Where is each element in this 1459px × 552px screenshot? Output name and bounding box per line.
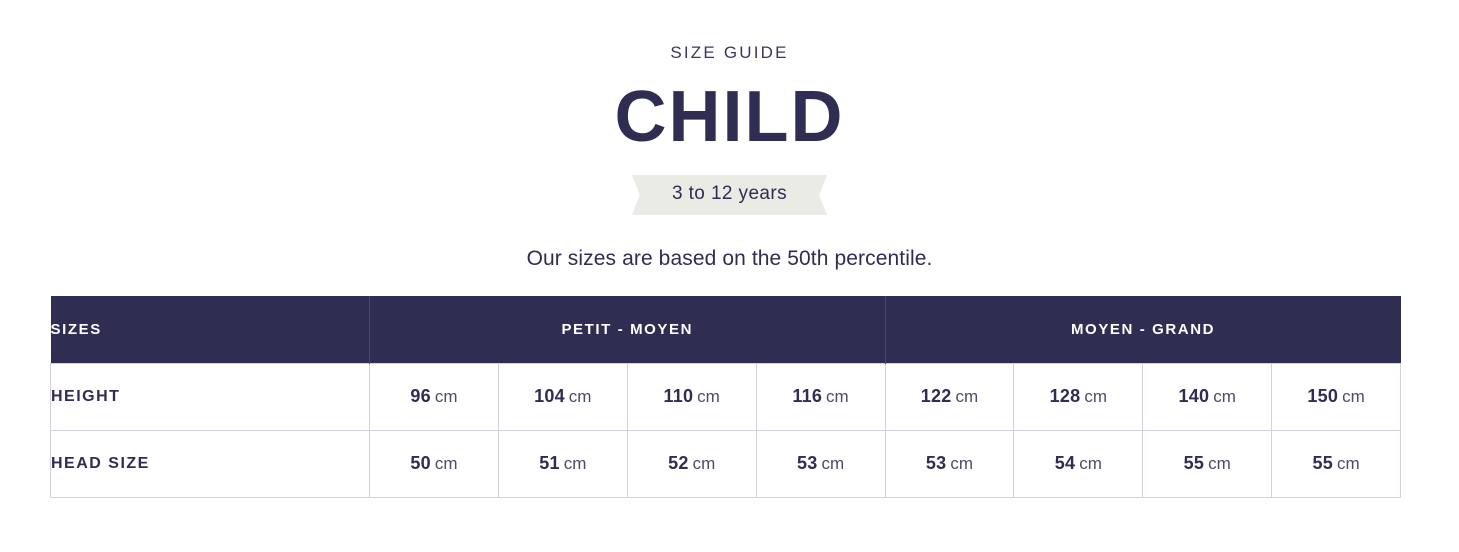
cell-unit: cm: [693, 454, 716, 473]
column-header-group-moyen-grand: MOYEN - GRAND: [885, 296, 1401, 363]
cell-value: 122: [921, 386, 952, 406]
size-table-container: SIZES PETIT - MOYEN MOYEN - GRAND HEIGHT…: [50, 296, 1400, 498]
cell-height-8: 150cm: [1272, 363, 1401, 430]
cell-value: 150: [1307, 386, 1338, 406]
cell-value: 55: [1313, 453, 1333, 473]
cell-height-2: 104cm: [498, 363, 627, 430]
cell-height-7: 140cm: [1143, 363, 1272, 430]
eyebrow-label: SIZE GUIDE: [0, 44, 1459, 61]
age-range-badge: 3 to 12 years: [632, 175, 827, 215]
cell-unit: cm: [435, 387, 458, 406]
table-header: SIZES PETIT - MOYEN MOYEN - GRAND: [51, 296, 1401, 363]
cell-value: 54: [1055, 453, 1075, 473]
cell-unit: cm: [1337, 454, 1360, 473]
cell-value: 53: [926, 453, 946, 473]
cell-head-size-5: 53cm: [885, 430, 1014, 497]
cell-head-size-7: 55cm: [1143, 430, 1272, 497]
cell-height-1: 96cm: [370, 363, 499, 430]
table-header-row: SIZES PETIT - MOYEN MOYEN - GRAND: [51, 296, 1401, 363]
cell-head-size-6: 54cm: [1014, 430, 1143, 497]
cell-value: 52: [668, 453, 688, 473]
cell-value: 50: [410, 453, 430, 473]
row-label-head-size: HEAD SIZE: [51, 430, 370, 497]
table-row: HEIGHT 96cm 104cm 110cm 116cm 122cm: [51, 363, 1401, 430]
cell-unit: cm: [1342, 387, 1365, 406]
row-label-height: HEIGHT: [51, 363, 370, 430]
cell-unit: cm: [950, 454, 973, 473]
cell-value: 116: [792, 386, 822, 406]
cell-unit: cm: [569, 387, 592, 406]
cell-unit: cm: [821, 454, 844, 473]
age-badge-container: 3 to 12 years: [0, 175, 1459, 215]
cell-unit: cm: [1084, 387, 1107, 406]
cell-head-size-3: 52cm: [627, 430, 756, 497]
cell-unit: cm: [826, 387, 849, 406]
cell-unit: cm: [697, 387, 720, 406]
cell-unit: cm: [1208, 454, 1231, 473]
size-table: SIZES PETIT - MOYEN MOYEN - GRAND HEIGHT…: [50, 296, 1401, 498]
cell-value: 53: [797, 453, 817, 473]
percentile-note: Our sizes are based on the 50th percenti…: [0, 247, 1459, 271]
cell-height-6: 128cm: [1014, 363, 1143, 430]
cell-value: 140: [1179, 386, 1210, 406]
cell-head-size-1: 50cm: [370, 430, 499, 497]
cell-height-5: 122cm: [885, 363, 1014, 430]
cell-value: 96: [410, 386, 430, 406]
cell-height-3: 110cm: [627, 363, 756, 430]
table-body: HEIGHT 96cm 104cm 110cm 116cm 122cm: [51, 363, 1401, 497]
page-header: SIZE GUIDE CHILD 3 to 12 years Our sizes…: [0, 0, 1459, 271]
column-header-group-petit-moyen: PETIT - MOYEN: [370, 296, 886, 363]
cell-head-size-4: 53cm: [756, 430, 885, 497]
cell-unit: cm: [564, 454, 587, 473]
cell-value: 51: [539, 453, 559, 473]
cell-head-size-8: 55cm: [1272, 430, 1401, 497]
cell-unit: cm: [1079, 454, 1102, 473]
cell-value: 55: [1184, 453, 1204, 473]
cell-height-4: 116cm: [756, 363, 885, 430]
page-title: CHILD: [0, 81, 1459, 153]
table-row: HEAD SIZE 50cm 51cm 52cm 53cm 53cm: [51, 430, 1401, 497]
cell-value: 104: [534, 386, 565, 406]
cell-unit: cm: [1213, 387, 1236, 406]
cell-head-size-2: 51cm: [498, 430, 627, 497]
cell-unit: cm: [435, 454, 458, 473]
cell-value: 128: [1050, 386, 1081, 406]
column-header-sizes: SIZES: [51, 296, 370, 363]
size-guide-page: SIZE GUIDE CHILD 3 to 12 years Our sizes…: [0, 0, 1459, 552]
cell-unit: cm: [955, 387, 978, 406]
cell-value: 110: [664, 386, 694, 406]
